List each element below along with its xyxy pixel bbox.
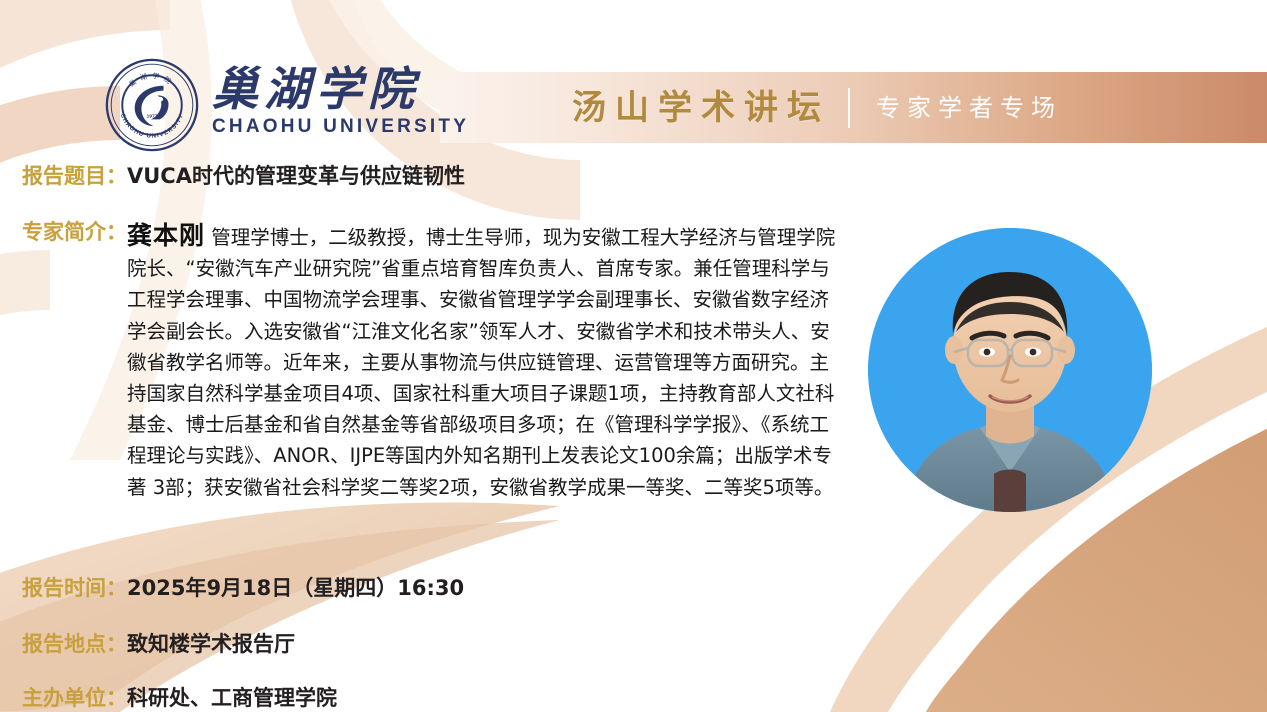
expert-bio-text: 管理学博士，二级教授，博士生导师，现为安徽工程大学经济与管理学院院长、“安徽汽车… [127, 226, 835, 499]
report-time-value: 2025年9月18日（星期四）16:30 [127, 572, 464, 602]
expert-bio-body: 龚本刚 管理学博士，二级教授，博士生导师，现为安徽工程大学经济与管理学院院长、“… [127, 216, 837, 503]
university-name-block: 巢湖学院 CHAOHU UNIVERSITY [212, 57, 469, 138]
university-seal-icon: 1977 CHAOHU UNIVERSITY 巢湖学院 [104, 57, 200, 153]
svg-text:1977: 1977 [147, 113, 158, 119]
report-time-row: 报告时间： 2025年9月18日（星期四）16:30 [22, 572, 464, 602]
banner-main-title: 汤山学术讲坛 [572, 91, 830, 125]
organizer-value: 科研处、工商管理学院 [127, 682, 337, 712]
report-place-label: 报告地点： [22, 628, 127, 658]
forum-banner: 汤山学术讲坛 专家学者专场 [440, 72, 1267, 143]
report-place-value: 致知楼学术报告厅 [127, 628, 295, 658]
university-logo: 1977 CHAOHU UNIVERSITY 巢湖学院 巢湖学院 CHAOHU … [104, 57, 469, 153]
university-name-cn: 巢湖学院 [212, 65, 469, 113]
poster-root: 汤山学术讲坛 专家学者专场 1977 CHAOHU UNIVERSITY 巢湖学… [0, 0, 1267, 712]
svg-text:巢湖学院: 巢湖学院 [127, 71, 177, 89]
expert-bio-label: 专家简介： [22, 216, 127, 246]
report-time-label: 报告时间： [22, 572, 127, 602]
report-place-row: 报告地点： 致知楼学术报告厅 [22, 628, 295, 658]
organizer-label: 主办单位： [22, 682, 127, 712]
speaker-portrait [868, 228, 1152, 512]
banner-divider [848, 88, 850, 128]
report-title-value: VUCA时代的管理变革与供应链韧性 [127, 160, 465, 190]
organizer-row: 主办单位： 科研处、工商管理学院 [22, 682, 337, 712]
banner-subtitle: 专家学者专场 [876, 96, 1062, 120]
expert-name: 龚本刚 [127, 221, 205, 250]
report-title-row: 报告题目： VUCA时代的管理变革与供应链韧性 [22, 160, 465, 190]
report-title-label: 报告题目： [22, 160, 127, 190]
university-name-en: CHAOHU UNIVERSITY [212, 116, 469, 138]
expert-bio-row: 专家简介： 龚本刚 管理学博士，二级教授，博士生导师，现为安徽工程大学经济与管理… [22, 216, 837, 503]
